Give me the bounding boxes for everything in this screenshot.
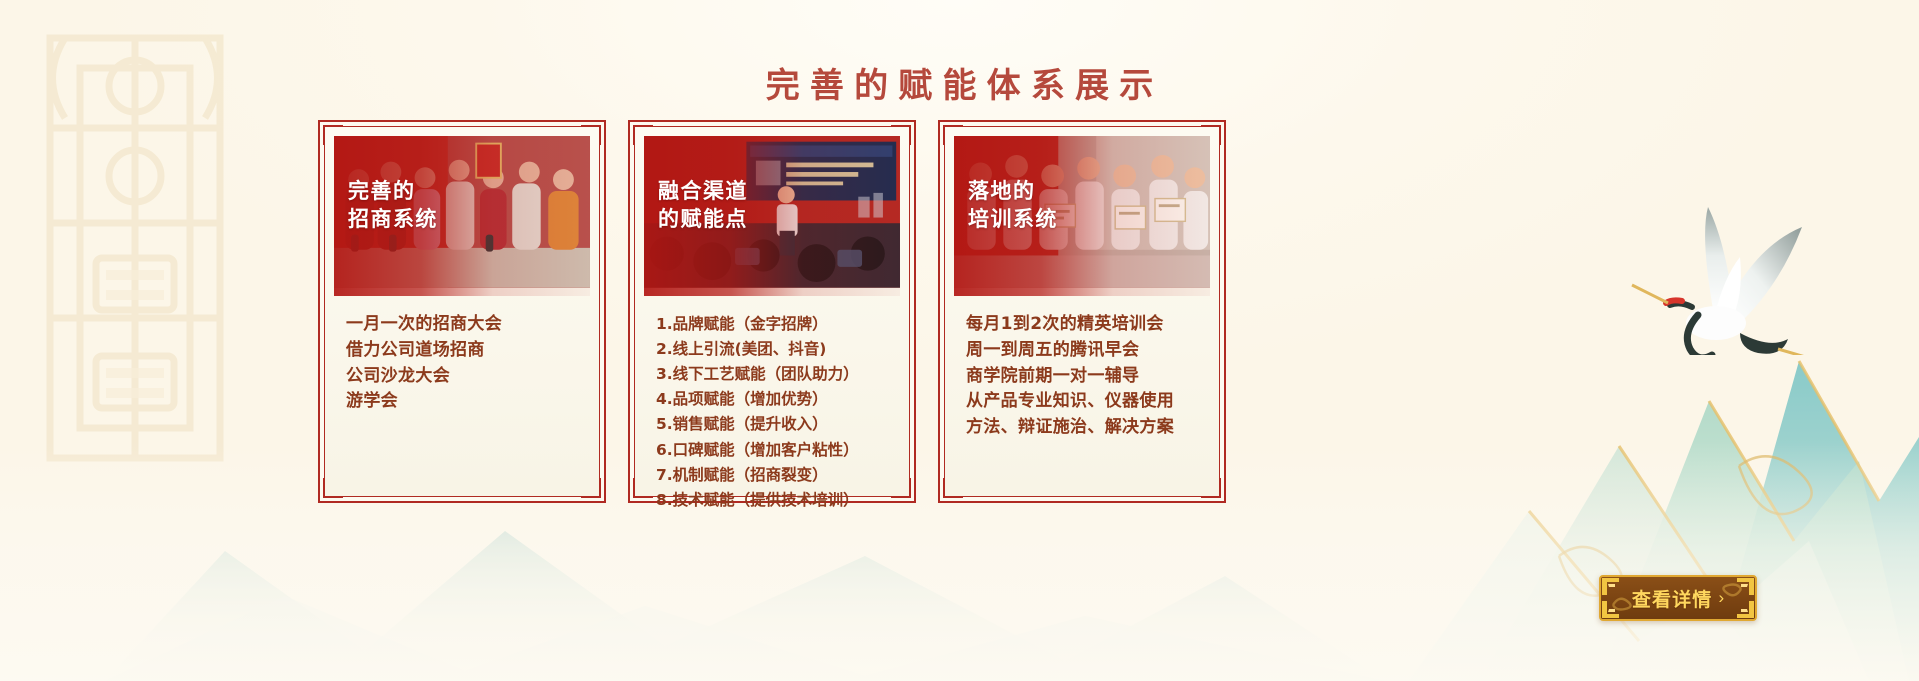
card-text-line: 5.销售赋能（提升收入） [656,412,896,437]
crane-bird-icon [1564,165,1864,355]
card-overlay-title: 完善的 招商系统 [348,178,438,233]
card-photo-certificates: 落地的 培训系统 [954,136,1210,296]
card-text-line: 游学会 [346,389,586,415]
card-text-line: 7.机制赋能（招商裂变） [656,463,896,488]
overlay-line-2: 培训系统 [968,206,1058,234]
card-text-line: 3.线下工艺赋能（团队助力） [656,362,896,387]
empowerment-cards-row: 完善的 招商系统 一月一次的招商大会 借力公司道场招商 公司沙龙大会 游学会 [318,120,1226,503]
card-investment-system[interactable]: 完善的 招商系统 一月一次的招商大会 借力公司道场招商 公司沙龙大会 游学会 [318,120,606,503]
card-text-line: 一月一次的招商大会 [346,312,586,338]
card-overlay-title: 融合渠道 的赋能点 [658,178,748,233]
card-text-line: 4.品项赋能（增加优势） [656,387,896,412]
card-text-line: 周一到周五的腾讯早会 [966,338,1206,364]
cloud-swirl-icon [1717,583,1743,601]
overlay-line-1: 完善的 [348,178,438,206]
corner-ornament-icon [1737,601,1754,618]
card-text-line: 借力公司道场招商 [346,338,586,364]
card-text-line: 2.线上引流(美团、抖音) [656,337,896,362]
page-title: 完善的赋能体系展示 [0,58,1919,107]
view-details-button[interactable]: 查看详情 › [1599,575,1757,621]
overlay-line-2: 的赋能点 [658,206,748,234]
view-details-label: 查看详情 [1632,585,1713,612]
card-photo-investment: 完善的 招商系统 [334,136,590,296]
card-photo-seminar: 融合渠道 的赋能点 [644,136,900,296]
overlay-line-2: 招商系统 [348,206,438,234]
card-text-line: 公司沙龙大会 [346,364,586,390]
card-body-investment: 一月一次的招商大会 借力公司道场招商 公司沙龙大会 游学会 [334,296,590,496]
card-overlay-title: 落地的 培训系统 [968,178,1058,233]
card-text-line: 方法、辩证施治、解决方案 [966,415,1206,441]
card-text-line: 商学院前期一对一辅导 [966,364,1206,390]
card-text-line: 从产品专业知识、仪器使用 [966,389,1206,415]
card-text-line: 每月1到2次的精英培训会 [966,312,1206,338]
card-training-system[interactable]: 落地的 培训系统 每月1到2次的精英培训会 周一到周五的腾讯早会 商学院前期一对… [938,120,1226,503]
card-text-line: 6.口碑赋能（增加客户粘性） [656,438,896,463]
overlay-line-1: 落地的 [968,178,1058,206]
cloud-swirl-icon [1611,593,1637,611]
overlay-line-1: 融合渠道 [658,178,748,206]
card-channel-empowerment[interactable]: 融合渠道 的赋能点 1.品牌赋能（金字招牌） 2.线上引流(美团、抖音) 3.线… [628,120,916,503]
card-body-channel: 1.品牌赋能（金字招牌） 2.线上引流(美团、抖音) 3.线下工艺赋能（团队助力… [644,296,900,513]
card-text-line: 1.品牌赋能（金字招牌） [656,312,896,337]
card-text-line: 8.技术赋能（提供技术培训） [656,488,896,513]
card-body-training: 每月1到2次的精英培训会 周一到周五的腾讯早会 商学院前期一对一辅导 从产品专业… [954,296,1210,496]
